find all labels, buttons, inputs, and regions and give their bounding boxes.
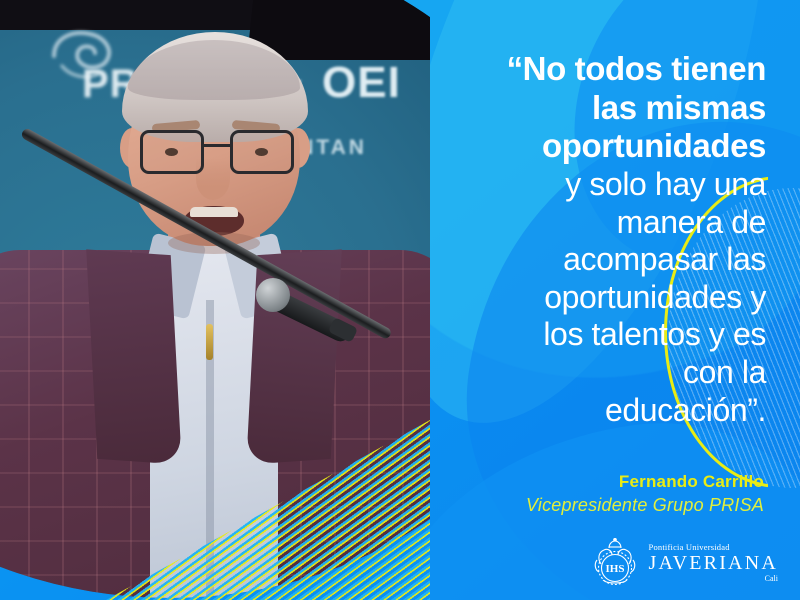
glasses-lens-left [140, 130, 204, 174]
logo-line-cali: Cali [649, 575, 778, 583]
quote-line: las mismas [466, 91, 766, 125]
microphone-icon [256, 278, 290, 312]
crest-monogram: IHS [605, 563, 624, 575]
logo-line-javeriana: JAVERIANA [649, 553, 778, 574]
quote-line: con la [466, 356, 766, 389]
quote-line: educación”. [466, 394, 766, 427]
quote-line: los talentos y es [466, 318, 766, 351]
glasses-bridge [204, 144, 230, 147]
quote-line: oportunidades [466, 129, 766, 163]
speaker-hair-shadow [128, 40, 300, 100]
quote-card: PRISA y OEI PRESENTAN [0, 0, 800, 600]
speaker-teeth [190, 207, 238, 217]
logo-line-pontificia: Pontificia Universidad [649, 543, 778, 552]
attribution-name: Fernando Carrillo [434, 472, 764, 492]
jacket-lapel-left [86, 249, 182, 464]
shirt-gold-detail [206, 324, 213, 360]
attribution: Fernando Carrillo Vicepresidente Grupo P… [434, 472, 764, 516]
quote-line: manera de [466, 206, 766, 239]
quote-line: y solo hay una [466, 168, 766, 201]
university-logo: IHS Pontificia Universidad JAVERIANA Cal… [591, 538, 778, 588]
glasses-lens-right [230, 130, 294, 174]
quote-line: acompasar las [466, 243, 766, 276]
logo-wordmark: Pontificia Universidad JAVERIANA Cali [649, 543, 778, 583]
speaker-glasses-icon [140, 130, 294, 176]
javeriana-crest-icon: IHS [591, 538, 639, 588]
quote-line: “No todos tienen [466, 52, 766, 86]
quote-line: oportunidades y [466, 281, 766, 314]
attribution-role: Vicepresidente Grupo PRISA [434, 495, 764, 516]
quote-text: “No todos tienen las mismas oportunidade… [466, 52, 766, 431]
